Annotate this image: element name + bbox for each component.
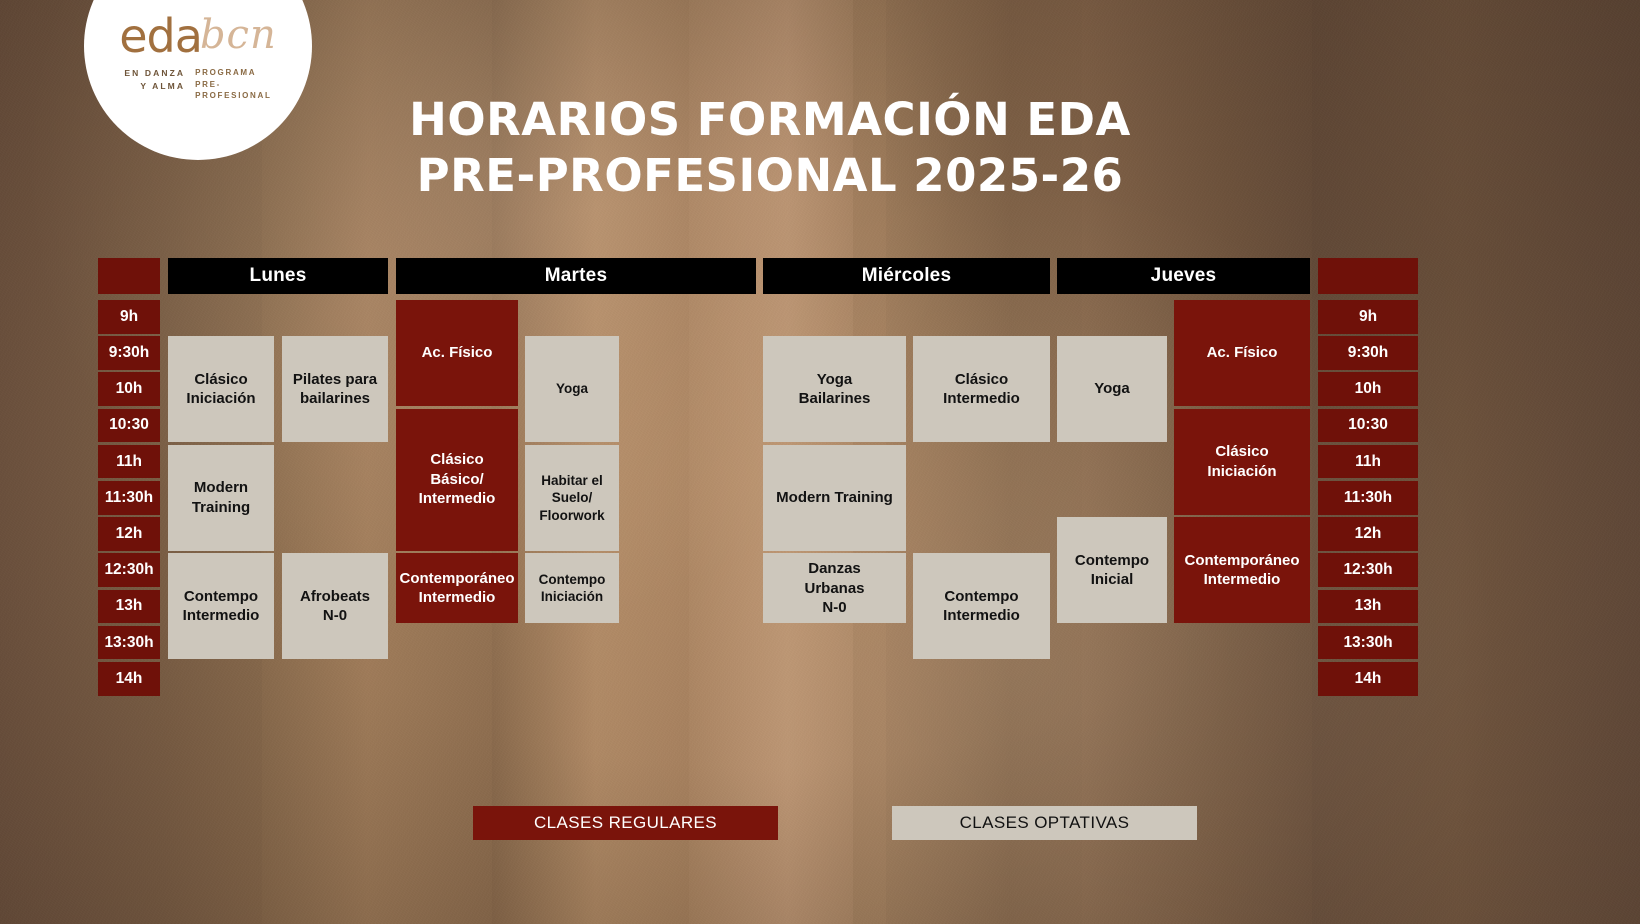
logo-script-bcn: bcn — [200, 15, 277, 55]
class-block-4: AfrobeatsN-0 — [282, 553, 388, 659]
time-label-right-8: 13h — [1318, 590, 1418, 624]
class-block-10: ContempoIniciación — [525, 553, 619, 623]
time-label-right-4: 11h — [1318, 445, 1418, 479]
class-block-0: ClásicoIniciación — [168, 336, 274, 442]
time-label-left-10: 14h — [98, 662, 160, 696]
class-block-9: Habitar el Suelo/Floorwork — [525, 445, 619, 551]
legend: CLASES REGULARES CLASES OPTATIVAS — [0, 806, 1640, 846]
corner-block-right — [1318, 258, 1418, 294]
time-label-right-2: 10h — [1318, 372, 1418, 406]
class-block-5: Ac. Físico — [396, 300, 518, 406]
title-line-2: PRE-PROFESIONAL 2025-26 — [330, 148, 1210, 204]
time-label-left-0: 9h — [98, 300, 160, 334]
time-label-left-5: 11:30h — [98, 481, 160, 515]
class-block-19: ClásicoIniciación — [1174, 409, 1310, 515]
logo-wordmark: eda — [119, 13, 202, 59]
time-label-right-3: 10:30 — [1318, 409, 1418, 443]
class-block-7: ContemporáneoIntermedio — [396, 553, 518, 623]
day-header-lunes: Lunes — [168, 258, 388, 294]
corner-block-left — [98, 258, 160, 294]
class-block-17: ContempoInicial — [1057, 517, 1167, 623]
time-label-right-0: 9h — [1318, 300, 1418, 334]
logo-tagline-right: PROGRAMAPRE-PROFESIONAL — [195, 67, 271, 102]
class-block-14: DanzasUrbanasN-0 — [763, 553, 906, 623]
class-block-18: Ac. Físico — [1174, 300, 1310, 406]
class-block-1: Pilates parabailarines — [282, 336, 388, 442]
class-block-2: ModernTraining — [168, 445, 274, 551]
legend-item-regular: CLASES REGULARES — [473, 806, 778, 840]
class-block-6: ClásicoBásico/Intermedio — [396, 409, 518, 551]
class-block-11: YogaBailarines — [763, 336, 906, 442]
logo-tagline-left: EN DANZAY ALMA — [124, 67, 185, 92]
day-header-jueves: Jueves — [1057, 258, 1310, 294]
class-block-20: ContemporáneoIntermedio — [1174, 517, 1310, 623]
time-label-left-4: 11h — [98, 445, 160, 479]
time-label-left-8: 13h — [98, 590, 160, 624]
time-label-left-1: 9:30h — [98, 336, 160, 370]
time-label-left-7: 12:30h — [98, 553, 160, 587]
time-label-right-9: 13:30h — [1318, 626, 1418, 660]
day-header-martes: Martes — [396, 258, 756, 294]
time-label-right-7: 12:30h — [1318, 553, 1418, 587]
page-title: HORARIOS FORMACIÓN EDA PRE-PROFESIONAL 2… — [330, 92, 1210, 204]
title-line-1: HORARIOS FORMACIÓN EDA — [330, 92, 1210, 148]
time-label-right-5: 11:30h — [1318, 481, 1418, 515]
class-block-8: Yoga — [525, 336, 619, 442]
legend-item-optional: CLASES OPTATIVAS — [892, 806, 1197, 840]
class-block-12: ClásicoIntermedio — [913, 336, 1050, 442]
time-label-left-6: 12h — [98, 517, 160, 551]
time-label-left-9: 13:30h — [98, 626, 160, 660]
class-block-16: Yoga — [1057, 336, 1167, 442]
time-label-right-1: 9:30h — [1318, 336, 1418, 370]
time-label-right-10: 14h — [1318, 662, 1418, 696]
time-label-left-3: 10:30 — [98, 409, 160, 443]
class-block-13: Modern Training — [763, 445, 906, 551]
time-label-left-2: 10h — [98, 372, 160, 406]
day-header-miércoles: Miércoles — [763, 258, 1050, 294]
class-block-15: ContempoIntermedio — [913, 553, 1050, 659]
time-label-right-6: 12h — [1318, 517, 1418, 551]
class-block-3: ContempoIntermedio — [168, 553, 274, 659]
